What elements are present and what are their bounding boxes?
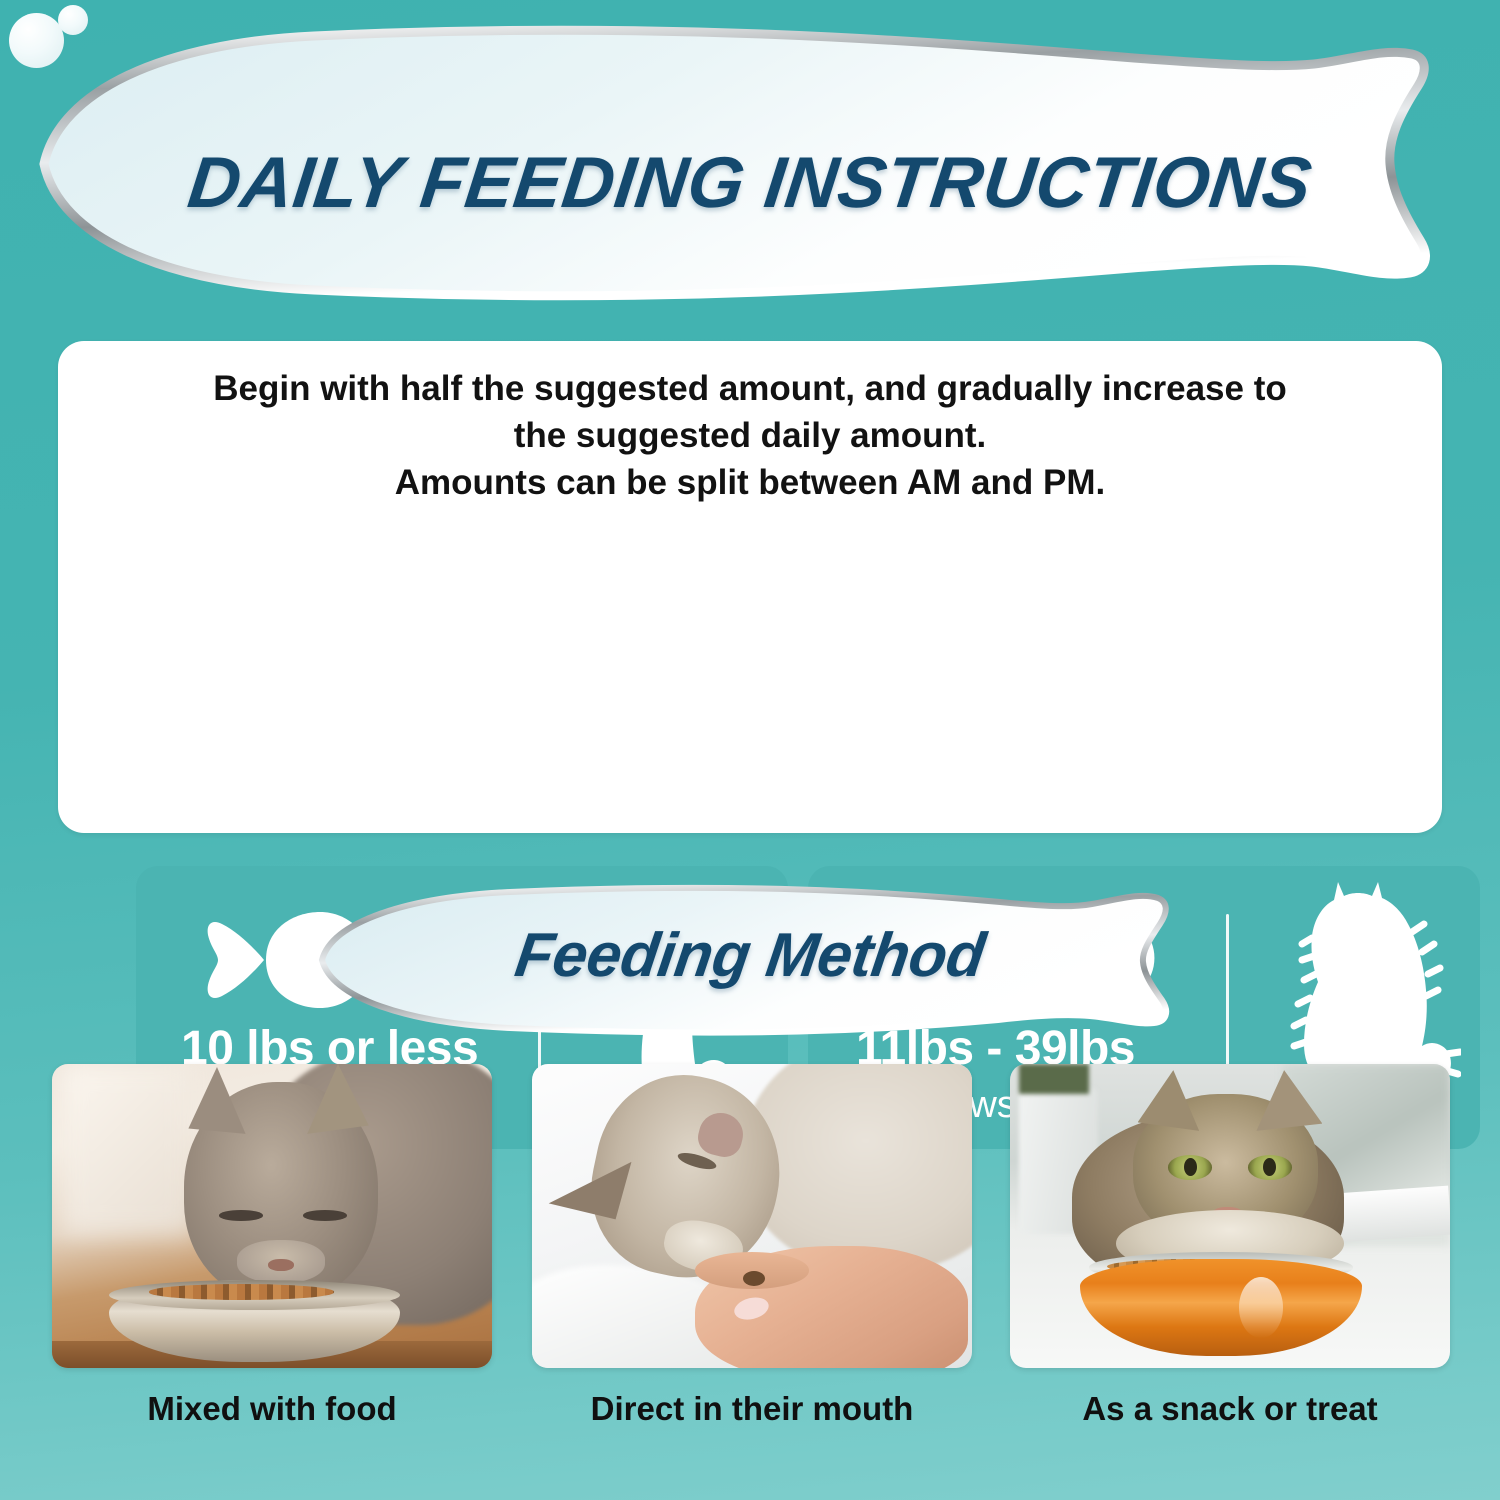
photo-mixed-with-food — [52, 1064, 492, 1368]
instruction-line-3: Amounts can be split between AM and PM. — [118, 459, 1382, 506]
instruction-paragraph: Begin with half the suggested amount, an… — [118, 365, 1382, 506]
photo-direct-in-mouth — [532, 1064, 972, 1368]
feeding-method-title-text: Feeding Method — [305, 920, 1195, 991]
feeding-method-banner: Feeding Method — [310, 880, 1190, 1040]
main-title-banner: DAILY FEEDING INSTRUCTIONS — [14, 14, 1486, 314]
photo-snack-or-treat — [1010, 1064, 1450, 1368]
instruction-panel: Begin with half the suggested amount, an… — [58, 341, 1442, 833]
photo-caption: Direct in their mouth — [532, 1390, 972, 1428]
instruction-line-2: the suggested daily amount. — [118, 412, 1382, 459]
instruction-line-1: Begin with half the suggested amount, an… — [118, 365, 1382, 412]
feeding-instructions-infographic: DAILY FEEDING INSTRUCTIONS Begin with ha… — [0, 0, 1500, 1500]
main-title-text: DAILY FEEDING INSTRUCTIONS — [9, 142, 1491, 224]
photo-caption: As a snack or treat — [1010, 1390, 1450, 1428]
photo-caption: Mixed with food — [52, 1390, 492, 1428]
